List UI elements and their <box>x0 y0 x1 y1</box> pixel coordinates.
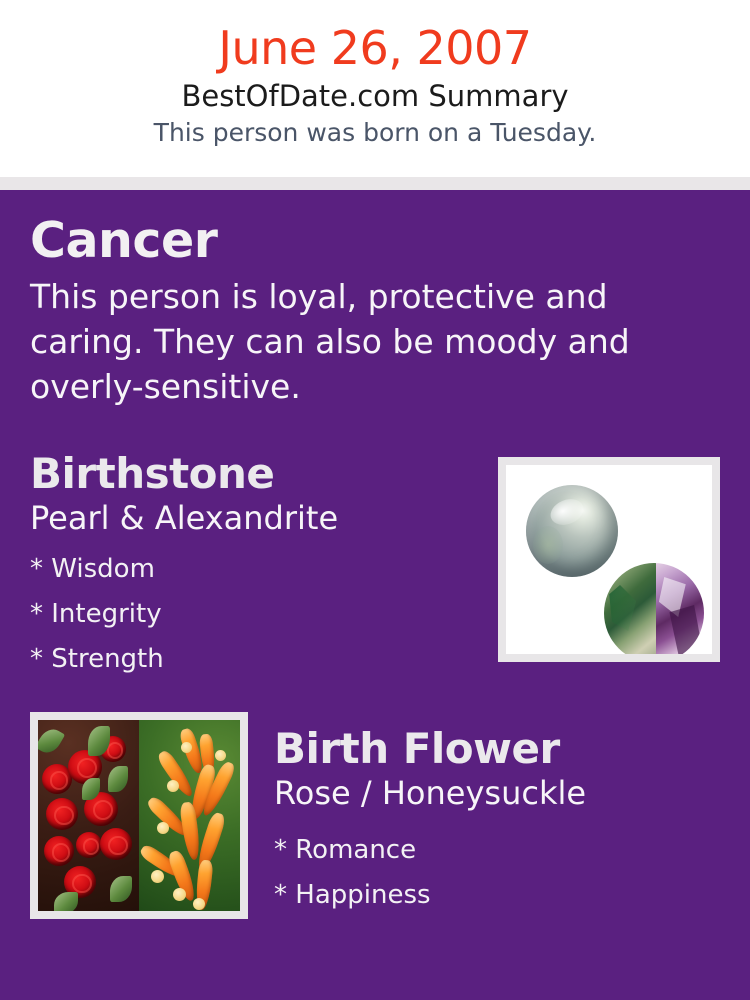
page-title-date: June 26, 2007 <box>0 22 750 74</box>
birthstone-image-frame <box>498 457 720 662</box>
birth-flower-section: Birth Flower Rose / Honeysuckle * Romanc… <box>0 712 750 919</box>
birth-flower-heading: Birth Flower <box>274 724 720 774</box>
red-roses-photo <box>38 720 139 911</box>
birthstone-heading: Birthstone <box>30 449 498 499</box>
birth-flower-image-frame <box>30 712 248 919</box>
gem-rough-half <box>604 563 656 654</box>
birthstone-names: Pearl & Alexandrite <box>30 497 498 539</box>
zodiac-description: This person is loyal, protective and car… <box>30 274 650 409</box>
site-summary-subtitle: BestOfDate.com Summary <box>0 76 750 116</box>
gem-faceted-half <box>656 563 704 654</box>
birth-flower-trait-list: * Romance * Happiness <box>274 828 720 918</box>
birthstone-trait-list: * Wisdom * Integrity * Strength <box>30 547 498 682</box>
birth-flower-image <box>38 720 240 911</box>
list-item: * Strength <box>30 637 498 682</box>
list-item: * Happiness <box>274 873 720 918</box>
summary-page: June 26, 2007 BestOfDate.com Summary Thi… <box>0 0 750 1000</box>
birthstone-section: Birthstone Pearl & Alexandrite * Wisdom … <box>0 449 750 682</box>
list-item: * Integrity <box>30 592 498 637</box>
list-item: * Wisdom <box>30 547 498 592</box>
page-header: June 26, 2007 BestOfDate.com Summary Thi… <box>0 0 750 177</box>
birth-flower-text-block: Birth Flower Rose / Honeysuckle * Romanc… <box>274 712 720 918</box>
content-panel: Cancer This person is loyal, protective … <box>0 190 750 919</box>
birthstone-image <box>506 465 712 654</box>
birth-flower-names: Rose / Honeysuckle <box>274 772 720 814</box>
birthstone-text-block: Birthstone Pearl & Alexandrite * Wisdom … <box>30 449 498 682</box>
header-divider <box>0 177 750 190</box>
zodiac-sign-name: Cancer <box>30 212 720 270</box>
zodiac-section: Cancer This person is loyal, protective … <box>0 212 750 409</box>
alexandrite-gem-icon <box>604 563 704 654</box>
orange-honeysuckle-photo <box>139 720 240 911</box>
birth-weekday-note: This person was born on a Tuesday. <box>0 116 750 150</box>
list-item: * Romance <box>274 828 720 873</box>
